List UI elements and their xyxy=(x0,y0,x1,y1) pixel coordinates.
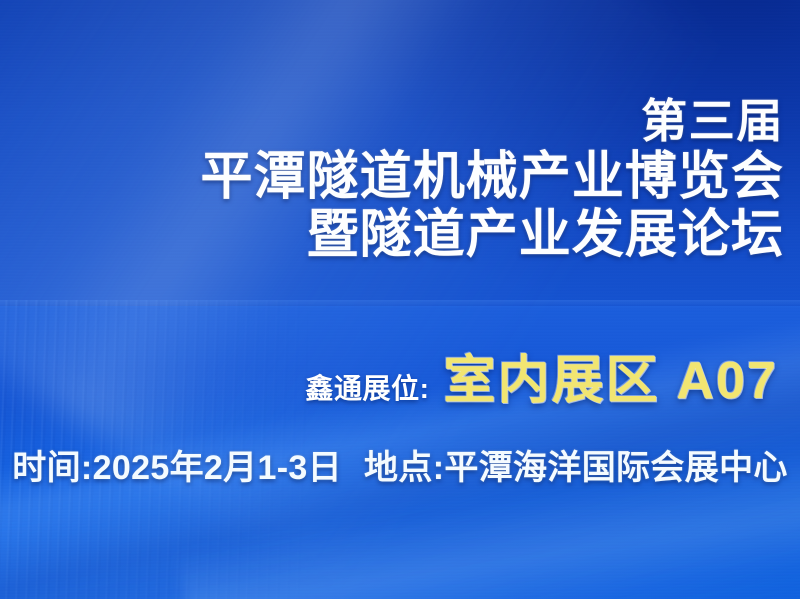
event-date: 时间:2025年2月1-3日 xyxy=(12,440,342,489)
event-title-subtitle: 暨隧道产业发展论坛 xyxy=(14,206,784,264)
event-venue: 地点:平潭海洋国际会展中心 xyxy=(364,440,788,489)
event-title-main: 平潭隧道机械产业博览会 xyxy=(14,148,784,206)
poster-content: 第三届 平潭隧道机械产业博览会 暨隧道产业发展论坛 鑫通展位: 室内展区 A07… xyxy=(0,0,800,599)
event-title-block: 第三届 平潭隧道机械产业博览会 暨隧道产业发展论坛 xyxy=(14,96,784,264)
event-title-edition: 第三届 xyxy=(14,96,784,148)
booth-number: 室内展区 A07 xyxy=(444,338,778,413)
event-meta-row: 时间:2025年2月1-3日 地点:平潭海洋国际会展中心 xyxy=(0,440,800,489)
booth-label: 鑫通展位: xyxy=(305,367,429,407)
booth-info-row: 鑫通展位: 室内展区 A07 xyxy=(305,338,778,413)
exhibition-poster: 第三届 平潭隧道机械产业博览会 暨隧道产业发展论坛 鑫通展位: 室内展区 A07… xyxy=(0,0,800,599)
